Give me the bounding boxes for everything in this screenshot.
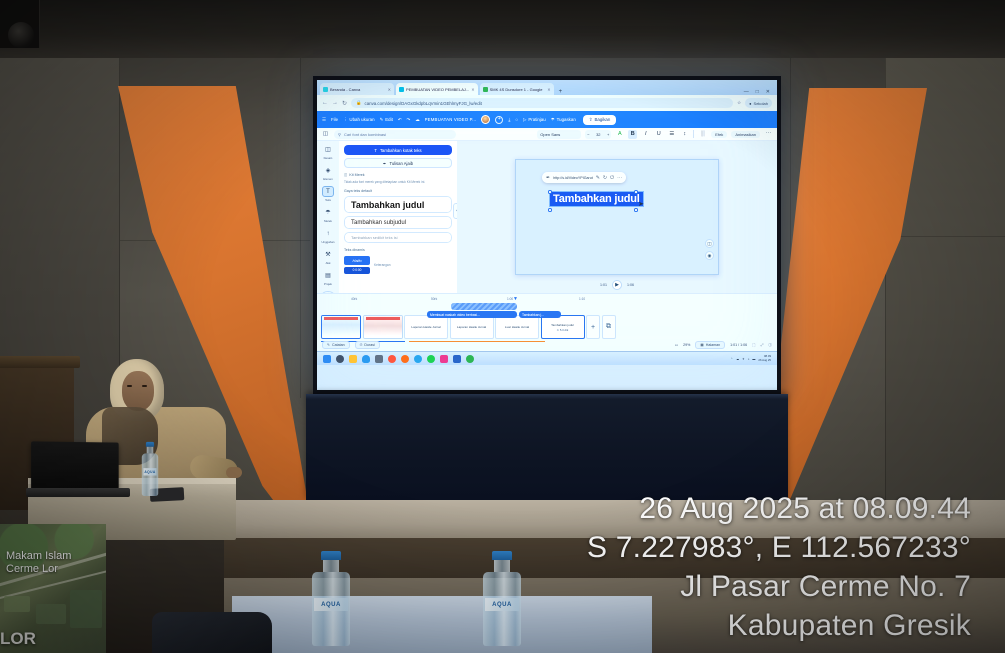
rail-label: Projek (324, 282, 332, 286)
timeline-text-clip[interactable]: Luar Hasile Jurnal (495, 315, 539, 339)
rail-item-merek[interactable]: ☂ Merek (317, 207, 339, 223)
clip-label: Luar Hasile Jurnal (505, 325, 529, 329)
wall-seam (300, 58, 301, 398)
timeline-clip[interactable] (363, 315, 403, 339)
edit-button[interactable]: ✎ Edit (380, 117, 393, 123)
timeline-status-bar: ✎ Catatan ⏱ Durasi ▭ 29% ▦ Halaman 1:01 … (317, 341, 777, 349)
more-icon[interactable]: ⋯ (617, 175, 622, 181)
close-icon[interactable]: ✕ (471, 87, 474, 92)
tab-title: SMK 4S Dunsdore 1 - Google (490, 87, 543, 92)
bottle-cap (321, 551, 341, 560)
body-style-option[interactable]: Tambahkan sedikit teks isi (344, 232, 452, 243)
font-name: Open Sans (540, 132, 560, 137)
resize-handle[interactable] (548, 208, 552, 212)
browser-profile-button[interactable]: ● Sekolah (745, 98, 772, 108)
cloud-sync-icon: ☁ (415, 117, 419, 123)
pencil-icon: ✎ (380, 117, 384, 123)
new-tab-button[interactable]: + (556, 89, 566, 95)
clock-icon: ⏱ (557, 328, 559, 332)
bottle-body: AQUA (483, 572, 521, 646)
total-time: 1:06 (627, 283, 634, 287)
playback-controls[interactable]: 1:01 ▶ 1:06 (457, 280, 777, 290)
transparency-icon[interactable]: ░ (698, 130, 707, 139)
current-time: 1:01 (600, 283, 607, 287)
avatar[interactable] (481, 115, 490, 124)
textbox-icon: T (374, 148, 377, 153)
share-button[interactable]: ⇧ Bagikan (583, 115, 617, 125)
browser-address-bar: ← → ↻ 🔒 canva.com/design/DAGxGkdpbLqVmin… (317, 95, 777, 111)
projection-screen: Beranda - Canva ✕ PEMBUATAN VIDEO PEMBEL… (313, 76, 781, 394)
magic-write-label: Tulisan Ajaib (389, 161, 413, 166)
uploads-icon: ↑ (322, 228, 334, 239)
subheading-style-option[interactable]: Tambahkan subjudul (344, 216, 452, 229)
font-search-input[interactable]: ⚲ Cari font dan kombinasi (334, 130, 456, 139)
back-icon[interactable]: ← (322, 100, 328, 106)
profile-label: Sekolah (754, 101, 768, 106)
magic-wand-icon: ✒ (383, 161, 387, 166)
profile-avatar-icon: ● (749, 101, 751, 106)
canva-side-rail: ◫ Desain ◈ Elemen T Teks ☂ Merek (317, 141, 339, 293)
ruler-tick: 50rk (431, 297, 437, 301)
help-icon[interactable]: ⓘ (768, 343, 772, 348)
decrease-icon[interactable]: − (587, 132, 589, 137)
ceiling-speaker-icon (8, 22, 34, 48)
close-icon[interactable]: ✕ (388, 87, 391, 92)
elements-icon: ◈ (322, 165, 334, 176)
italic-icon[interactable]: I (641, 130, 650, 139)
bottle-neck (494, 560, 510, 572)
lock-icon: 🔒 (356, 100, 361, 106)
ruler-tick: 1:10 (579, 297, 585, 301)
timer-card-label: 0 0:00 (344, 267, 370, 274)
rail-item-projek[interactable]: ▤ Projek (317, 270, 339, 286)
zoom-level[interactable]: 29% (683, 343, 690, 347)
resize-handle[interactable] (634, 190, 638, 194)
font-family-select[interactable]: Open Sans (537, 130, 581, 139)
window-controls[interactable]: — □ ✕ (744, 89, 774, 95)
canvas-area[interactable]: ✒ http://s.id/VideoYPIGarut ✎ ↻ ⏻ ⋯ Tamb… (457, 141, 777, 293)
hamburger-menu-icon[interactable]: ☰ (322, 117, 326, 123)
rail-label: Alat (326, 261, 331, 265)
page-notes-icon[interactable]: ◫ (705, 239, 714, 248)
grid-icon[interactable]: ⬚ (752, 343, 755, 347)
bottle-label: AQUA (314, 598, 348, 611)
brand-kit-icon: ◫ (344, 173, 347, 177)
rail-label: Unggahan (322, 240, 335, 244)
lock-icon[interactable]: ⏻ (610, 175, 614, 181)
preview-icon: ▷ (523, 117, 526, 123)
fullscreen-icon[interactable]: ⤢ (761, 343, 764, 347)
chrome2-icon[interactable] (466, 355, 474, 363)
tray-chevron-icon[interactable]: ⌃ (731, 357, 734, 361)
canva-text-toolbar: ◫ ⚲ Cari font dan kombinasi Open Sans − … (317, 128, 777, 141)
rail-label: Elemen (323, 177, 332, 181)
pages-button[interactable]: ▦ Halaman (695, 341, 725, 349)
ruler-tick: 40rk (351, 297, 357, 301)
page-settings-icon[interactable]: ◉ (705, 251, 714, 260)
assign-label: Tugaskan (557, 117, 576, 122)
document-title[interactable]: PEMBUATAN VIDEO P... (425, 117, 477, 122)
map-place-label: Makam Islam Cerme Lor (6, 550, 71, 575)
duration-button[interactable]: ⏱ Durasi (355, 341, 380, 349)
person-hand (226, 467, 242, 478)
gps-address-line2: Kabupaten Gresik (587, 606, 971, 645)
panel-toggle-icon[interactable]: ◫ (321, 130, 330, 139)
bottle-body: AQUA (312, 572, 350, 646)
forward-icon[interactable]: → (332, 100, 338, 106)
duration-value: 5.0 dtk (560, 328, 568, 332)
refresh-icon[interactable]: ↻ (603, 175, 607, 181)
projects-icon: ▤ (322, 270, 334, 281)
map-patch (36, 604, 66, 624)
align-icon[interactable]: U (654, 130, 663, 139)
edit-link-icon[interactable]: ✎ (596, 175, 600, 181)
resize-icon: ⋮ (343, 117, 347, 123)
share-icon: ⇧ (589, 117, 593, 123)
foreground-bag (152, 612, 272, 653)
tab-title: PEMBUATAN VIDEO PEMBELAJ... (406, 87, 469, 92)
clip-title-band (324, 317, 358, 320)
font-size-stepper[interactable]: − 32 + (585, 130, 611, 139)
browser-tab[interactable]: Beranda - Canva ✕ (320, 83, 394, 95)
canva-header: ☰ File ⋮ Ubah ukuran ✎ Edit ↶ ↷ ☁ PEMBUA… (317, 111, 777, 128)
brand-kit-note: Tidak ada font merek yang ditetapkan unt… (344, 180, 452, 184)
map-thumbnail-watermark: Makam Islam Cerme Lor LOR (0, 524, 106, 653)
map-patch (4, 596, 30, 612)
link-floating-toolbar[interactable]: ✒ http://s.id/VideoYPIGarut ✎ ↻ ⏻ ⋯ (542, 172, 626, 183)
tray-network-icon[interactable]: ✈ (742, 357, 745, 361)
page-side-buttons[interactable]: ◫ ◉ (705, 239, 714, 260)
animate-button[interactable]: Animasikan (731, 131, 760, 138)
water-bottle-front-left: AQUA (312, 551, 350, 646)
favicon-icon (323, 87, 328, 92)
instagram-icon[interactable] (440, 355, 448, 363)
search-icon: ⚲ (338, 132, 341, 137)
comment-icon[interactable]: ○ (515, 117, 518, 122)
default-styles-label: Gaya teks default (344, 189, 452, 193)
favicon-icon (483, 87, 488, 92)
text-color-icon[interactable]: A (615, 130, 624, 139)
bottle-neck (323, 560, 339, 572)
favicon-icon (399, 87, 404, 92)
add-collaborator-button[interactable]: + (495, 116, 503, 124)
playhead-icon[interactable]: ▼ (513, 296, 518, 302)
hello-card-label: Hallo (344, 256, 370, 265)
table-top-edge (306, 394, 788, 399)
store-icon[interactable] (362, 355, 370, 363)
increase-icon[interactable]: + (607, 132, 609, 137)
water-bottle-front-right: AQUA (483, 551, 521, 646)
edit-label: Edit (385, 117, 393, 122)
timer-icon: ⏱ (360, 343, 363, 347)
water-bottle-small: AQUA (142, 442, 158, 496)
clip-label: Laporan Hasile Jurnal (411, 325, 440, 329)
close-icon[interactable]: ✕ (547, 87, 550, 92)
search-placeholder: Cari font dan kombinasi (344, 132, 386, 137)
close-window-icon[interactable]: ✕ (766, 89, 770, 95)
dynamic-text-card[interactable]: Hallo 0 0:00 (344, 256, 370, 274)
duration-label: Durasi (364, 343, 374, 347)
minimize-icon[interactable]: — (744, 89, 749, 95)
download-icon[interactable]: ⤓ (508, 117, 510, 122)
spotify-icon[interactable] (427, 355, 435, 363)
resize-handle[interactable] (548, 190, 552, 194)
clip-label: Tambahkan judul (551, 323, 574, 327)
brand-icon: ☂ (322, 207, 334, 218)
draped-table (306, 394, 788, 500)
resize-button[interactable]: ⋮ Ubah ukuran (343, 117, 375, 123)
browser-tab-bar: Beranda - Canva ✕ PEMBUATAN VIDEO PEMBEL… (317, 80, 777, 95)
time-readout: 1:01 / 1:06 (730, 343, 747, 347)
line-spacing-icon[interactable]: ↕ (680, 130, 689, 139)
design-page[interactable]: ✒ http://s.id/VideoYPIGarut ✎ ↻ ⏻ ⋯ Tamb… (515, 159, 719, 275)
timeline-bar-script[interactable]: Membuat naskah video berbasi... (427, 311, 517, 318)
notes-button[interactable]: ✎ Catatan (322, 341, 350, 349)
firefox-icon[interactable] (401, 355, 409, 363)
gps-stamp-overlay: 26 Aug 2025 at 08.09.44 S 7.227983°, E 1… (587, 489, 971, 645)
add-page-button[interactable]: + (586, 315, 600, 339)
font-size-value: 32 (596, 132, 600, 137)
rail-item-unggahan[interactable]: ↑ Unggahan (317, 228, 339, 244)
assign-icon: ☂ (551, 117, 555, 123)
effects-button[interactable]: Efek (711, 131, 727, 138)
taskbar-clock[interactable]: 08.09 26 Aug 25 (758, 355, 771, 361)
canva-timeline: 40rk 50rk 1:00 1:10 ▼ Membuat naskah vid… (317, 293, 777, 351)
browser-tab[interactable]: SMK 4S Dunsdore 1 - Google ✕ (480, 83, 554, 95)
clip-duration-badge: ⏱ 5.0 dtk (557, 328, 569, 332)
play-icon[interactable]: ▶ (612, 280, 622, 290)
ceiling (0, 0, 1005, 58)
tray-volume-icon[interactable]: ◑ (748, 357, 750, 361)
notes-label: Catatan (332, 343, 345, 347)
text-panel: T Tambahkan kotak teks ✒ Tulisan Ajaib ◫… (339, 141, 457, 293)
redo-icon[interactable]: ↷ (407, 117, 411, 123)
link-icon: ✒ (546, 175, 550, 181)
tab-title: Beranda - Canva (330, 87, 360, 92)
undo-icon[interactable]: ↶ (398, 117, 402, 123)
url-text: canva.com/design/DAGxGkdpbLqVmin1GEhlmyF… (365, 101, 482, 106)
rail-label: Merek (324, 219, 332, 223)
gps-coordinates: S 7.227983°, E 112.567233° (587, 528, 971, 567)
resize-handle[interactable] (634, 208, 638, 212)
design-icon: ◫ (322, 144, 334, 155)
bottle-label: AQUA (143, 468, 156, 475)
duplicate-page-button[interactable]: ⧉ (602, 315, 616, 339)
add-textbox-button[interactable]: T Tambahkan kotak teks (344, 145, 452, 155)
file-explorer-icon[interactable] (349, 355, 357, 363)
preview-button[interactable]: ▷ Pratinjau (523, 117, 546, 123)
selected-title-textbox[interactable]: Tambahkan judul (550, 192, 643, 206)
wall-seam (900, 236, 1005, 237)
laptop-base (26, 488, 130, 497)
map-patch (70, 590, 102, 628)
bottle-label: AQUA (485, 598, 519, 611)
fit-to-screen-icon[interactable]: ▭ (675, 343, 678, 347)
clock-date: 26 Aug 25 (758, 359, 771, 362)
projected-desktop: Beranda - Canva ✕ PEMBUATAN VIDEO PEMBEL… (317, 80, 777, 390)
brand-kit-label: Kit Merek (349, 173, 364, 177)
reload-icon[interactable]: ↻ (342, 100, 347, 107)
dynamic-text-row: Hallo 0 0:00 Keterangan (344, 256, 452, 274)
map-edge-text: LOR (0, 629, 36, 649)
clip-label: Laporan Hasile Jurnal (457, 325, 486, 329)
bookmark-star-icon[interactable]: ☆ (737, 100, 741, 106)
timeline-bar-hatched[interactable] (451, 303, 517, 310)
windows-taskbar: ⌃ ☁ ✈ ◑ ▬ 08.09 26 Aug 25 (317, 351, 777, 365)
gps-datetime: 26 Aug 2025 at 08.09.44 (587, 489, 971, 528)
chrome-icon[interactable] (388, 355, 396, 363)
browser-tab-active[interactable]: PEMBUATAN VIDEO PEMBELAJ... ✕ (396, 83, 478, 95)
timeline-text-clip[interactable]: Laporan Hasile Jurnal (404, 315, 448, 339)
timeline-text-clip[interactable]: Laporan Hasile Jurnal (450, 315, 494, 339)
rail-item-elemen[interactable]: ◈ Elemen (317, 165, 339, 181)
rail-item-teks[interactable]: T Teks (317, 186, 339, 202)
map-place-line2: Cerme Lor (6, 563, 71, 576)
canva-workspace: ◫ Desain ◈ Elemen T Teks ☂ Merek (317, 141, 777, 293)
preview-label: Pratinjau (528, 117, 545, 122)
assign-button[interactable]: ☂ Tugaskan (551, 117, 576, 123)
rail-item-desain[interactable]: ◫ Desain (317, 144, 339, 160)
gps-address-line1: Jl Pasar Cerme No. 7 (587, 567, 971, 606)
photo-scene: Beranda - Canva ✕ PEMBUATAN VIDEO PEMBEL… (0, 0, 1005, 653)
magic-write-button[interactable]: ✒ Tulisan Ajaib (344, 158, 452, 168)
dynamic-text-label: Teks dinamis (344, 248, 452, 252)
file-menu[interactable]: File (331, 117, 338, 122)
link-url-text: http://s.id/VideoYPIGarut (553, 176, 593, 180)
laptop-screen (31, 441, 119, 490)
rail-item-alat[interactable]: ⚒ Alat (317, 249, 339, 265)
edge-icon[interactable] (414, 355, 422, 363)
person-face (122, 371, 154, 411)
mouse-cursor-icon: ➤ (638, 200, 644, 208)
pages-label: Halaman (706, 343, 720, 347)
tray-cloud-icon[interactable]: ☁ (736, 357, 739, 361)
pages-icon: ▦ (700, 343, 703, 347)
timeline-selected-text-clip[interactable]: Tambahkan judul ⏱ 5.0 dtk (541, 315, 585, 339)
search-icon[interactable] (336, 355, 344, 363)
brand-kit-header: ◫ Kit Merek (344, 173, 452, 177)
tools-icon: ⚒ (322, 249, 334, 260)
share-label: Bagikan (594, 117, 610, 122)
start-icon[interactable] (323, 355, 331, 363)
podium-top (0, 356, 80, 368)
timeline-bar-title[interactable]: Tambahkan j... (519, 311, 561, 318)
more-options-icon[interactable]: ⋯ (764, 130, 773, 139)
maximize-icon[interactable]: □ (756, 89, 759, 95)
camera-icon[interactable] (375, 355, 383, 363)
caption-label: Keterangan (374, 263, 390, 267)
heading-style-option[interactable]: Tambahkan judul (344, 196, 452, 213)
map-place-line1: Makam Islam (6, 550, 71, 563)
rail-label: Teks (325, 198, 331, 202)
rail-label: Desain (324, 156, 333, 160)
add-textbox-label: Tambahkan kotak teks (380, 148, 422, 153)
clip-title-band (366, 317, 400, 320)
word-icon[interactable] (453, 355, 461, 363)
bold-icon[interactable]: B (628, 130, 637, 139)
notes-icon: ✎ (327, 343, 330, 347)
text-icon: T (322, 186, 334, 197)
list-icon[interactable]: ☰ (667, 130, 676, 139)
timeline-clips: Laporan Hasile Jurnal Laporan Hasile Jur… (321, 315, 773, 339)
bottle-cap (492, 551, 512, 560)
url-input[interactable]: 🔒 canva.com/design/DAGxGkdpbLqVmin1GEhlm… (351, 98, 733, 108)
timeline-clip[interactable] (321, 315, 361, 339)
system-tray[interactable]: ⌃ ☁ ✈ ◑ ▬ 08.09 26 Aug 25 (731, 355, 771, 361)
timeline-bars: Membuat naskah video berbasi... Tambahka… (321, 303, 773, 315)
tray-battery-icon[interactable]: ▬ (752, 357, 755, 361)
timeline-ruler: 40rk 50rk 1:00 1:10 ▼ (317, 296, 777, 303)
resize-label: Ubah ukuran (349, 117, 374, 122)
